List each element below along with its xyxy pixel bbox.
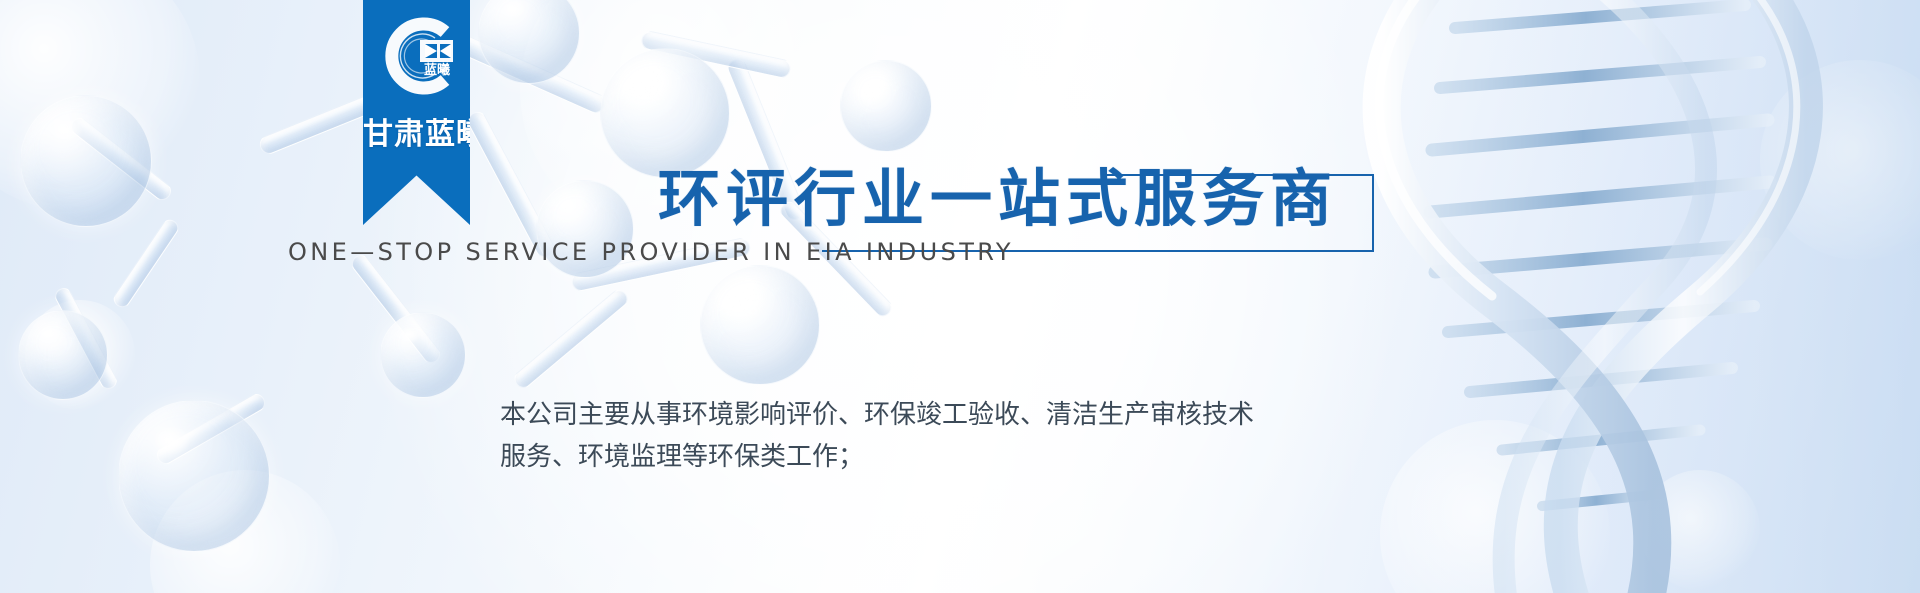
molecule-cluster-icon	[0, 0, 1000, 593]
lanxi-circle-logo-icon: 蓝曦	[373, 12, 461, 100]
logo-brand-text: 蓝曦	[423, 62, 449, 78]
bokeh-light	[1380, 420, 1610, 593]
dna-helix-icon	[1280, 0, 1920, 593]
banner-subtitle: ONE—STOP SERVICE PROVIDER IN EIA INDUSTR…	[288, 238, 1014, 266]
banner-headline: 环评行业一站式服务商	[658, 168, 1338, 230]
bokeh-light	[0, 0, 200, 210]
banner-description: 本公司主要从事环境影响评价、环保竣工验收、清洁生产审核技术 服务、环境监理等环保…	[500, 394, 1290, 478]
company-ribbon-badge[interactable]: 蓝曦 甘肃蓝曦	[363, 0, 470, 225]
hero-banner: 蓝曦 甘肃蓝曦 环评行业一站式服务商 ONE—STOP SERVICE PROV…	[0, 0, 1920, 593]
bokeh-light	[25, 300, 135, 410]
description-line-2: 服务、环境监理等环保类工作；	[500, 436, 1290, 478]
description-line-1: 本公司主要从事环境影响评价、环保竣工验收、清洁生产审核技术	[500, 394, 1290, 436]
company-short-name: 甘肃蓝曦	[363, 118, 470, 151]
bokeh-light	[150, 470, 340, 593]
bracket-line-vertical	[1372, 174, 1374, 252]
bokeh-light	[1640, 470, 1760, 590]
bokeh-light	[1760, 60, 1920, 260]
